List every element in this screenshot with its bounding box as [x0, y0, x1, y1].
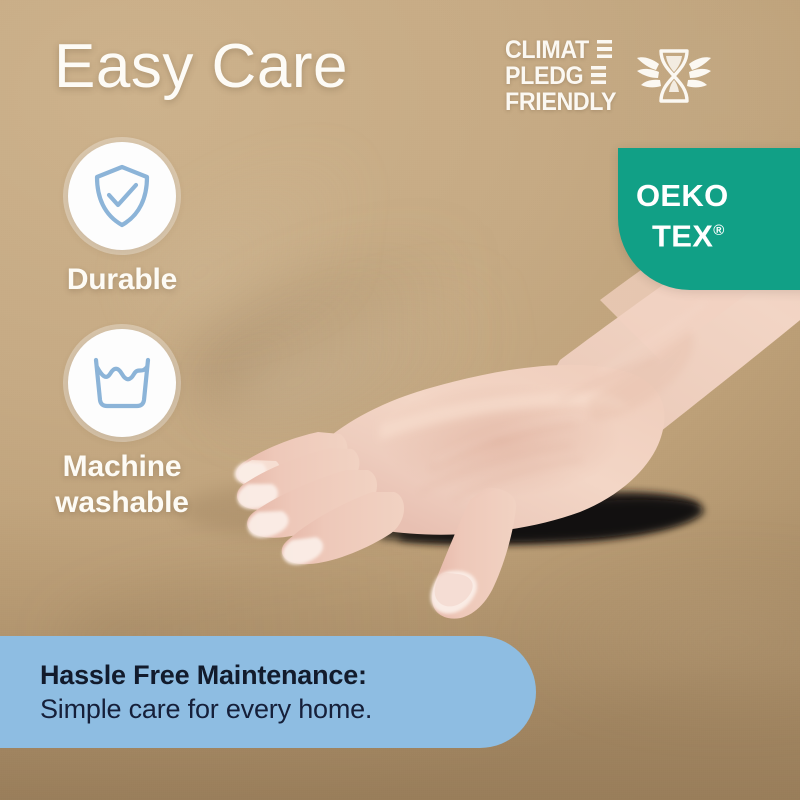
shield-check-icon — [91, 163, 153, 229]
oeko-tex-text: OEKO TEX® — [636, 178, 729, 253]
banner-subtitle: Simple care for every home. — [40, 692, 536, 726]
banner-title: Hassle Free Maintenance: — [40, 658, 536, 692]
bottom-banner: Hassle Free Maintenance: Simple care for… — [0, 636, 536, 748]
cpf-line-2-label: PLEDG — [505, 63, 583, 89]
cpf-line-1: CLIMAT — [505, 37, 612, 63]
feature-label-machine-washable: Machine washable — [55, 449, 188, 521]
cpf-line-3-label: FRIENDLY — [505, 89, 616, 115]
feature-icon-circle — [68, 329, 176, 437]
oeko-tex-line-2: TEX® — [636, 213, 729, 253]
registered-mark-icon: ® — [713, 222, 724, 239]
page-title: Easy Care — [54, 36, 348, 98]
feature-durable: Durable — [12, 142, 232, 298]
feature-label-line-2: washable — [55, 485, 188, 521]
cpf-line-3: FRIENDLY — [505, 89, 625, 115]
climate-pledge-friendly-badge: CLIMAT PLEDG FRIENDLY — [505, 34, 713, 118]
bar-e-icon — [591, 66, 606, 86]
feature-icon-circle — [68, 142, 176, 250]
wash-tub-icon — [90, 354, 154, 412]
climate-pledge-text: CLIMAT PLEDG FRIENDLY — [505, 37, 625, 115]
feature-label-line-1: Machine — [55, 449, 188, 485]
feature-machine-washable: Machine washable — [12, 329, 232, 521]
feature-label-durable: Durable — [67, 262, 177, 298]
oeko-tex-line-2-label: TEX — [652, 218, 713, 253]
bar-e-icon — [597, 40, 612, 60]
product-feature-graphic: Easy Care CLIMAT PLEDG FRIENDLY — [0, 0, 800, 800]
winged-hourglass-icon — [635, 34, 713, 118]
oeko-tex-badge: OEKO TEX® — [618, 148, 800, 290]
oeko-tex-line-1: OEKO — [636, 178, 729, 213]
cpf-line-1-label: CLIMAT — [505, 37, 589, 63]
cpf-line-2: PLEDG — [505, 63, 606, 89]
